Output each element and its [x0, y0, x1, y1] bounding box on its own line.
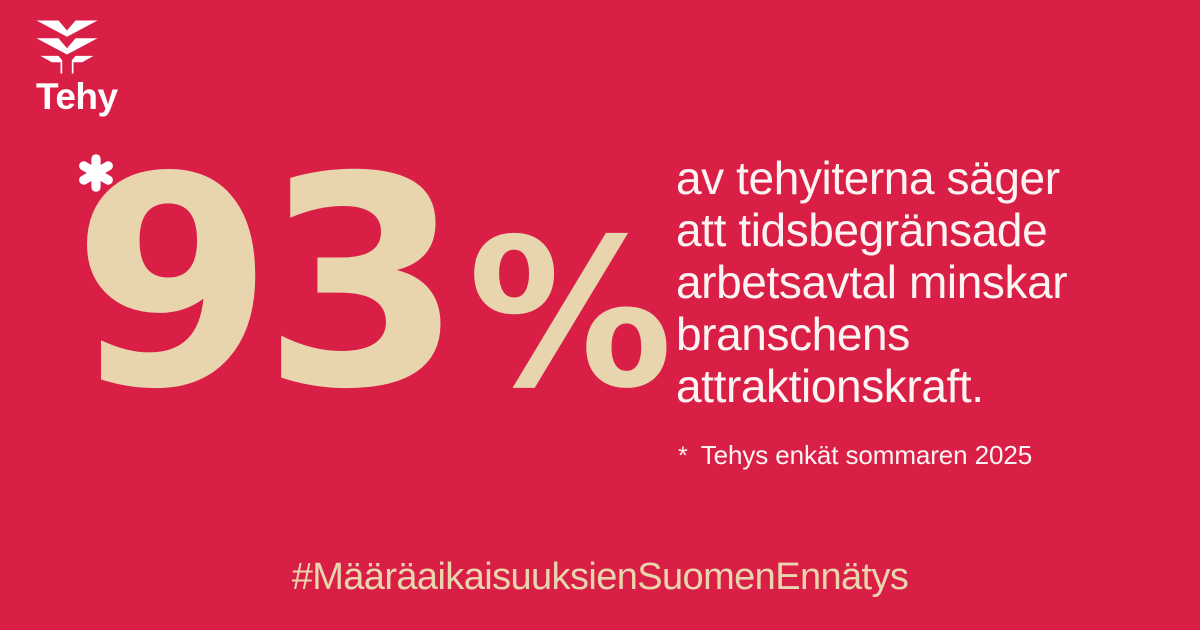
source-asterisk-marker: *: [678, 444, 688, 469]
campaign-hashtag: #MääräaikaisuuksienSuomenEnnätys: [0, 558, 1200, 596]
campaign-poster: Tehy 93 % av tehyiterna säger att tidsbe…: [0, 0, 1200, 630]
statistic-value: 93: [72, 178, 452, 393]
tehy-logo: Tehy: [36, 20, 166, 115]
source-note: * Tehys enkät sommaren 2025: [678, 442, 1032, 469]
statement-line: arbetsavtal minskar: [676, 256, 1156, 308]
statistic-unit: %: [468, 240, 667, 392]
tehy-wing-chevron-icon: [36, 20, 98, 74]
statement-line: branschens: [676, 308, 1156, 360]
statement-block: av tehyiterna säger att tidsbegränsade a…: [676, 152, 1156, 412]
tehy-wordmark: Tehy: [36, 78, 166, 115]
statistic-figure: 93 %: [72, 178, 667, 393]
source-text: Tehys enkät sommaren 2025: [701, 442, 1032, 468]
statement-line: av tehyiterna säger: [676, 152, 1156, 204]
statement-line: attraktionskraft.: [676, 360, 1156, 412]
statement-line: att tidsbegränsade: [676, 204, 1156, 256]
